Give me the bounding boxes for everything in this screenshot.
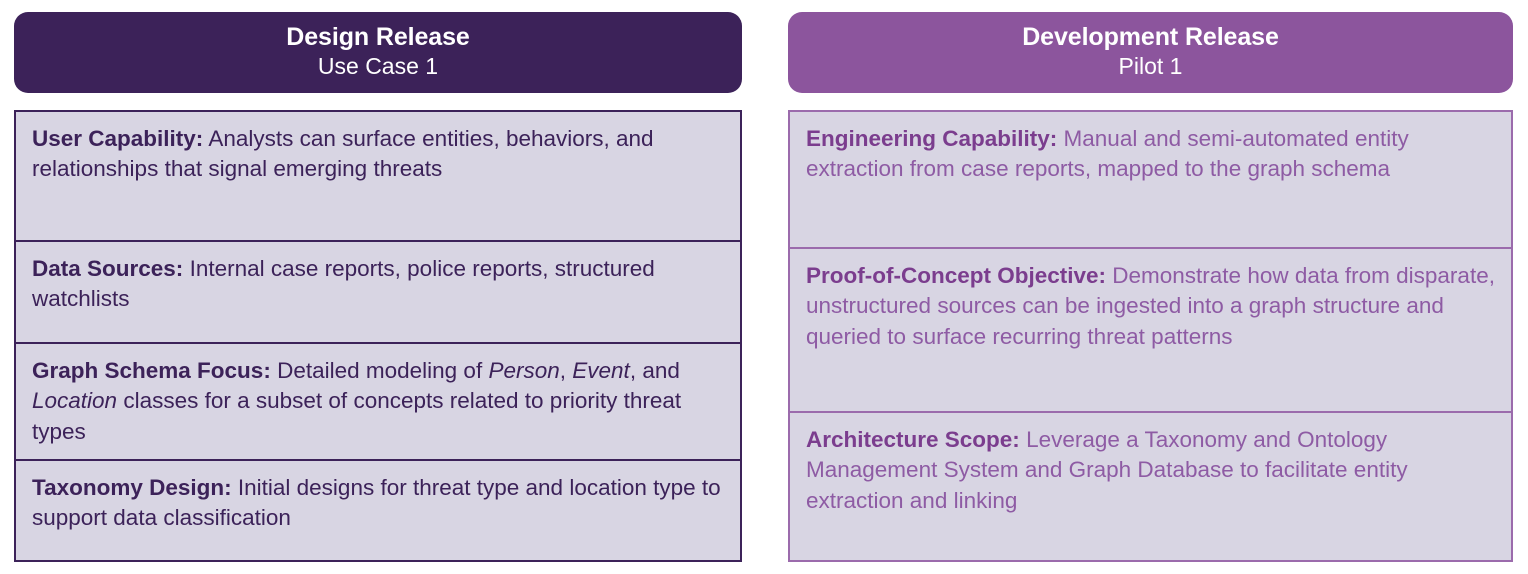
- design-release-table: User Capability: Analysts can surface en…: [14, 110, 742, 562]
- table-row: Graph Schema Focus: Detailed modeling of…: [16, 342, 740, 459]
- column-design-release: Design Release Use Case 1 User Capabilit…: [14, 0, 742, 574]
- column-development-release: Development Release Pilot 1 Engineering …: [788, 0, 1513, 574]
- row-label: Proof-of-Concept Objective:: [806, 263, 1106, 288]
- row-label: Taxonomy Design:: [32, 475, 232, 500]
- table-row: Taxonomy Design: Initial designs for thr…: [16, 459, 740, 560]
- table-row: User Capability: Analysts can surface en…: [16, 112, 740, 240]
- table-row: Proof-of-Concept Objective: Demonstrate …: [790, 247, 1511, 411]
- row-label: Architecture Scope:: [806, 427, 1020, 452]
- row-label: Graph Schema Focus:: [32, 358, 271, 383]
- design-release-header-card: Design Release Use Case 1: [14, 12, 742, 93]
- development-release-subtitle: Pilot 1: [1119, 53, 1183, 79]
- development-release-table: Engineering Capability: Manual and semi-…: [788, 110, 1513, 562]
- development-release-header-card: Development Release Pilot 1: [788, 12, 1513, 93]
- development-release-title: Development Release: [1022, 24, 1279, 51]
- table-row: Engineering Capability: Manual and semi-…: [790, 112, 1511, 247]
- design-release-subtitle: Use Case 1: [318, 53, 438, 79]
- table-row: Architecture Scope: Leverage a Taxonomy …: [790, 411, 1511, 560]
- row-label: User Capability:: [32, 126, 203, 151]
- design-release-title: Design Release: [286, 24, 469, 51]
- row-label: Data Sources:: [32, 256, 183, 281]
- row-label: Engineering Capability:: [806, 126, 1057, 151]
- table-row: Data Sources: Internal case reports, pol…: [16, 240, 740, 342]
- release-comparison-board: Design Release Use Case 1 User Capabilit…: [0, 0, 1528, 574]
